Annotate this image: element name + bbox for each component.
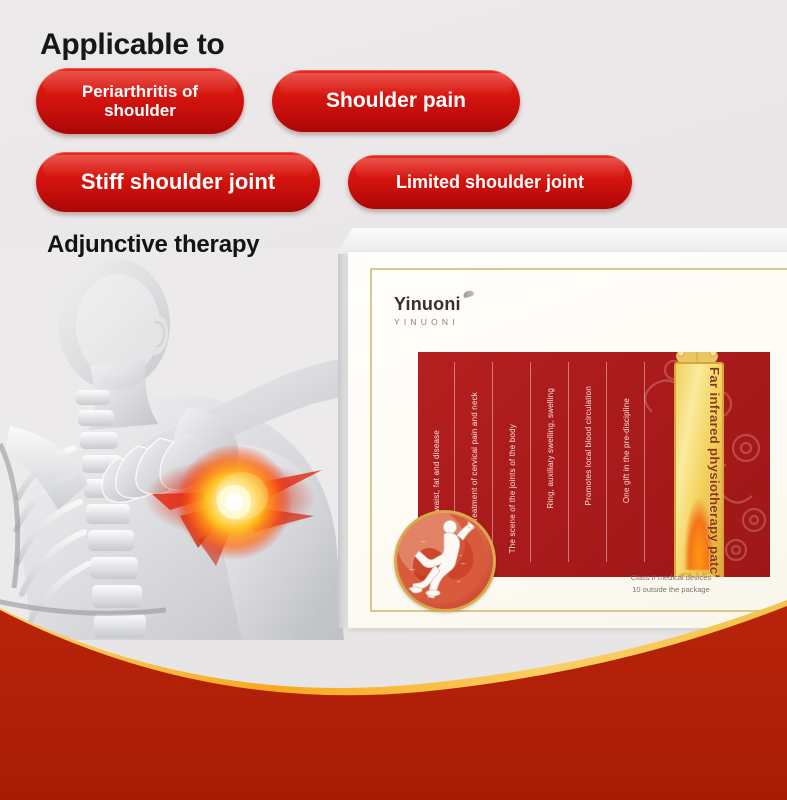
indication-pill-limited-shoulder-joint[interactable]: Limited shoulder joint <box>348 155 632 209</box>
panel-divider <box>644 362 645 562</box>
svg-text:▪▪▪: ▪▪▪ <box>421 539 426 544</box>
product-box: Yinuoni YINUONI <box>338 228 787 628</box>
brand-lockup: Yinuoni YINUONI <box>394 294 461 327</box>
feature-line: Promotes local blood circulation <box>584 386 593 505</box>
panel-divider <box>530 362 531 562</box>
indication-label: Limited shoulder joint <box>396 172 584 192</box>
feature-line: The scene of the joints of the body <box>508 424 517 553</box>
brand-name: Yinuoni <box>394 294 461 315</box>
svg-text:▪▪: ▪▪ <box>459 553 463 558</box>
indication-pill-periarthritis-of-shoulder[interactable]: Periarthritis of shoulder <box>36 68 244 134</box>
feature-line: Ring, auxiliary swelling, swelling <box>546 388 555 509</box>
gold-banner-body: Far infrared physiotherapy patch <box>674 362 724 577</box>
feature-line: One gift in the pre-discipline <box>622 398 631 503</box>
indication-label: Periarthritis of shoulder <box>50 82 230 120</box>
panel-divider <box>606 362 607 562</box>
product-name: Far infrared physiotherapy patch <box>676 364 722 577</box>
box-front-face: Yinuoni YINUONI <box>348 252 787 628</box>
indication-pill-shoulder-pain[interactable]: Shoulder pain <box>272 70 520 132</box>
svg-text:▪▪▪: ▪▪▪ <box>461 561 466 566</box>
brand-romanization: YINUONI <box>394 317 461 327</box>
box-top-edge <box>338 228 787 254</box>
page-title: Applicable to <box>40 30 224 60</box>
indication-label: Shoulder pain <box>326 89 466 113</box>
indication-label: Stiff shoulder joint <box>81 170 275 195</box>
panel-divider <box>492 362 493 562</box>
svg-text:▪▪▪▪: ▪▪▪▪ <box>409 567 416 572</box>
gold-banner: Far infrared physiotherapy patch <box>668 352 726 577</box>
page-subtitle: Adjunctive therapy <box>47 233 259 257</box>
panel-divider <box>568 362 569 562</box>
bottom-accent-band <box>0 580 787 800</box>
indication-pill-stiff-shoulder-joint[interactable]: Stiff shoulder joint <box>36 152 320 212</box>
product-banner: Applicable to Periarthritis of shoulder … <box>0 0 787 800</box>
